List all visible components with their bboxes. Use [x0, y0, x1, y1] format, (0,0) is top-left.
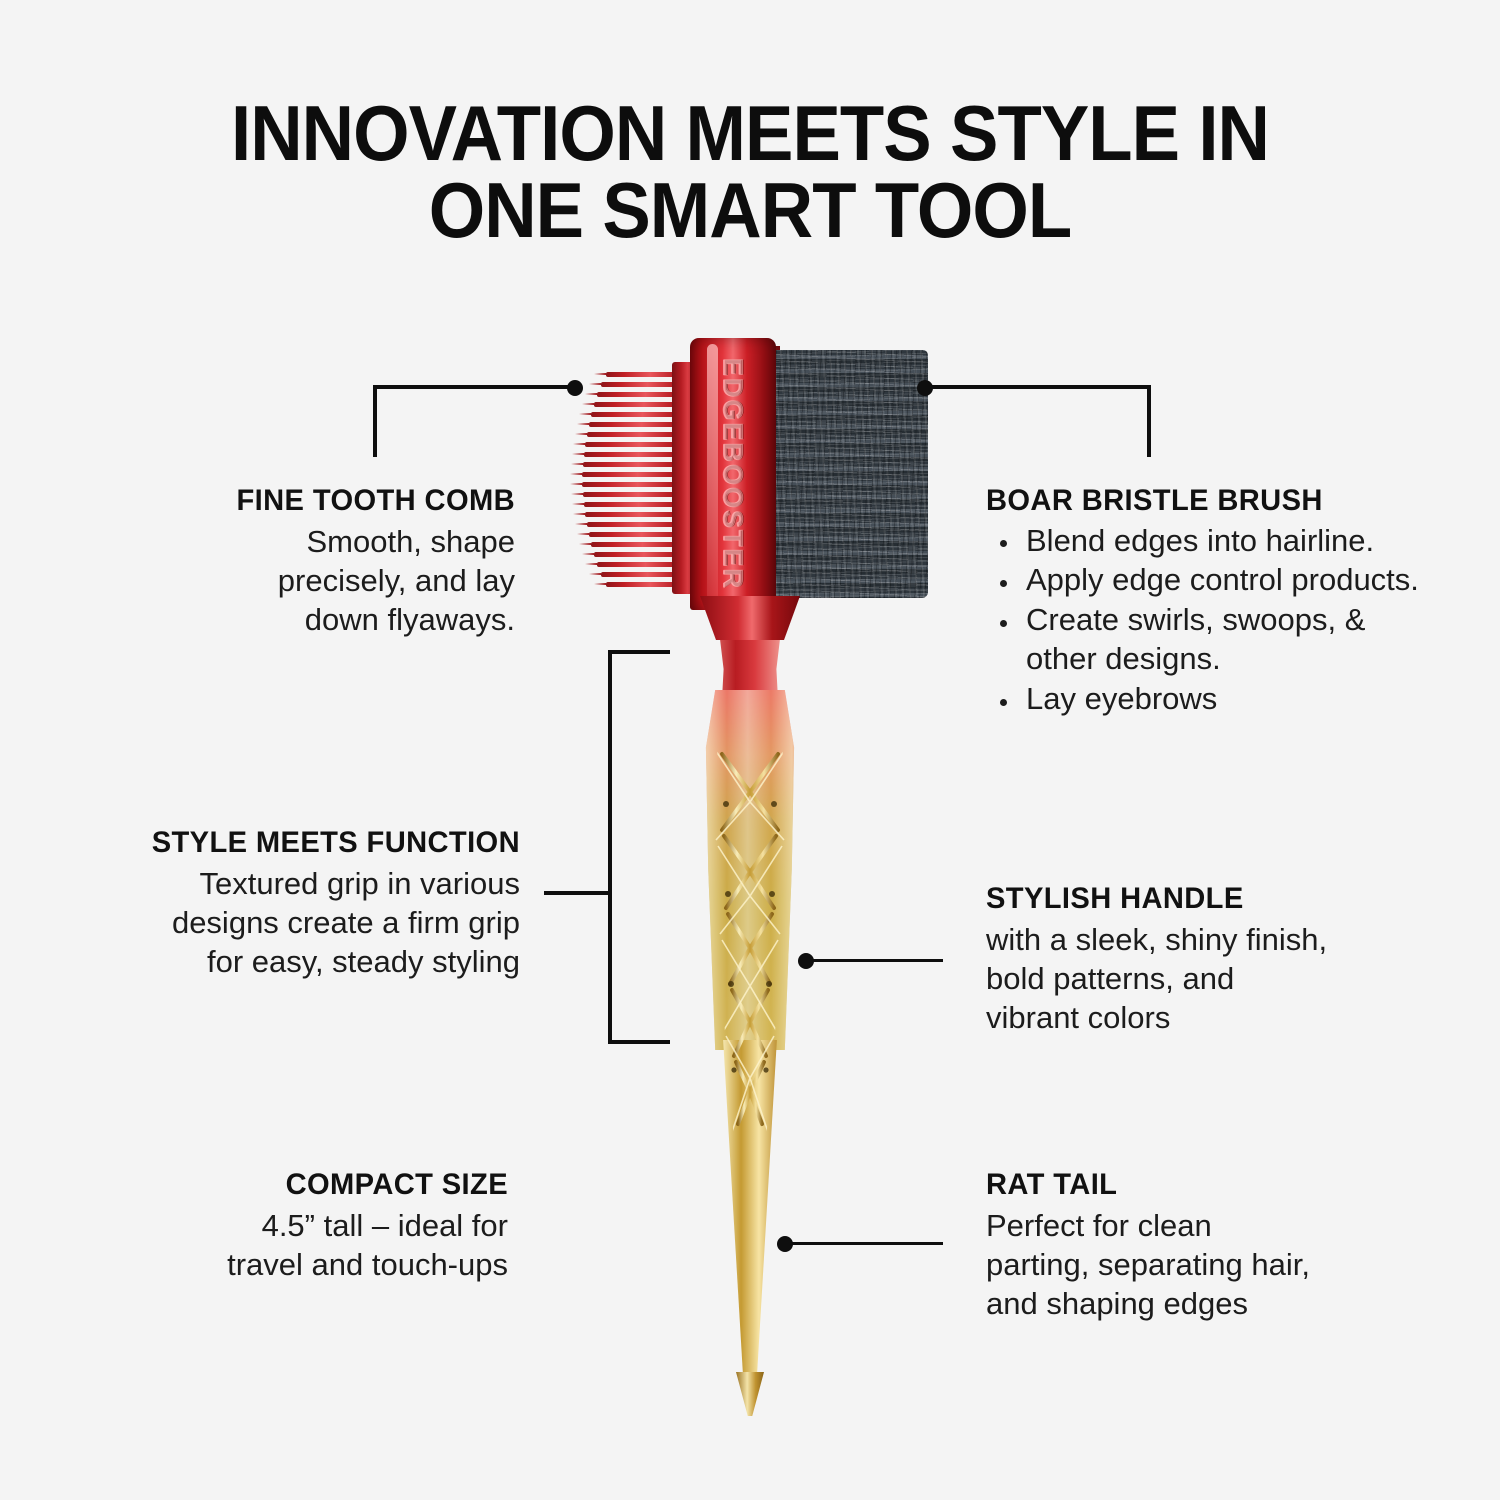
list-item: Apply edge control products. [986, 561, 1426, 600]
callout-heading-rat-tail: RAT TAIL [986, 1168, 1393, 1202]
handle-gradient [692, 690, 808, 1050]
bullet-text: Lay eyebrows [1026, 681, 1217, 716]
bullet-text: Apply edge control products. [1026, 562, 1419, 597]
callout-heading-style-meets-function: STYLE MEETS FUNCTION [84, 826, 521, 860]
leader-line-rat-tail [789, 1242, 943, 1245]
leader-line-fine-tooth-comb-vertical [373, 385, 377, 457]
leader-line-boar-bristle-brush-vertical [1147, 385, 1151, 457]
rat-tail-shaft [694, 1040, 806, 1380]
callout-heading-boar-bristle-brush: BOAR BRISTLE BRUSH [986, 484, 1413, 518]
comb-spine [672, 362, 698, 594]
callout-body-stylish-handle: with a sleek, shiny finish, bold pattern… [986, 920, 1406, 1037]
bullet-dot-icon [1000, 699, 1007, 706]
callout-boar-bristle-brush: BOAR BRISTLE BRUSH Blend edges into hair… [986, 484, 1426, 720]
leader-line-boar-bristle-brush-horizontal [929, 385, 1151, 389]
leader-line-stylish-handle [810, 959, 943, 962]
bristle-base-edge [774, 346, 780, 602]
callout-stylish-handle: STYLISH HANDLE with a sleek, shiny finis… [986, 882, 1406, 1037]
rat-tail-tip [736, 1372, 764, 1416]
product-body-bar: EDGEBOOSTER [690, 338, 776, 610]
bracket-arm-bottom-style-meets-function [608, 1040, 670, 1044]
handle-neck-top [700, 596, 800, 640]
bullet-text: Create swirls, swoops, & other designs. [1026, 602, 1365, 676]
fine-tooth-comb-teeth [576, 372, 698, 584]
callout-rat-tail: RAT TAIL Perfect for clean parting, sepa… [986, 1168, 1406, 1323]
brand-label: EDGEBOOSTER [690, 338, 776, 610]
callout-body-rat-tail: Perfect for clean parting, separating ha… [986, 1206, 1406, 1323]
handle-lattice-pattern [700, 744, 800, 1164]
list-item: Blend edges into hairline. [986, 522, 1426, 561]
list-item: Lay eyebrows [986, 680, 1426, 719]
page-title: INNOVATION MEETS STYLE IN ONE SMART TOOL [53, 95, 1448, 249]
callout-compact-size: COMPACT SIZE 4.5” tall – ideal for trave… [90, 1168, 508, 1284]
bullet-text: Blend edges into hairline. [1026, 523, 1374, 558]
boar-bristles [776, 350, 928, 598]
infographic-canvas: INNOVATION MEETS STYLE IN ONE SMART TOOL [0, 0, 1500, 1500]
callout-bullets-boar-bristle-brush: Blend edges into hairline. Apply edge co… [986, 522, 1426, 719]
list-item: Create swirls, swoops, & other designs. [986, 601, 1426, 679]
handle-neck [690, 596, 810, 714]
bullet-dot-icon [1000, 580, 1007, 587]
handle-sheen [692, 690, 808, 1050]
callout-heading-compact-size: COMPACT SIZE [103, 1168, 508, 1202]
leader-line-fine-tooth-comb-horizontal [373, 385, 573, 389]
callout-heading-stylish-handle: STYLISH HANDLE [986, 882, 1393, 916]
callout-body-fine-tooth-comb: Smooth, shape precisely, and lay down fl… [90, 522, 515, 639]
callout-fine-tooth-comb: FINE TOOTH COMB Smooth, shape precisely,… [90, 484, 515, 639]
bracket-stem-style-meets-function [544, 891, 610, 895]
callout-body-style-meets-function: Textured grip in various designs create … [70, 864, 520, 981]
bracket-spine-style-meets-function [608, 650, 612, 1044]
bullet-dot-icon [1000, 540, 1007, 547]
callout-style-meets-function: STYLE MEETS FUNCTION Textured grip in va… [70, 826, 520, 981]
callout-heading-fine-tooth-comb: FINE TOOTH COMB [103, 484, 515, 518]
callout-body-compact-size: 4.5” tall – ideal for travel and touch-u… [90, 1206, 508, 1284]
bullet-dot-icon [1000, 620, 1007, 627]
comb-head: EDGEBOOSTER [576, 330, 928, 630]
bracket-arm-top-style-meets-function [608, 650, 670, 654]
